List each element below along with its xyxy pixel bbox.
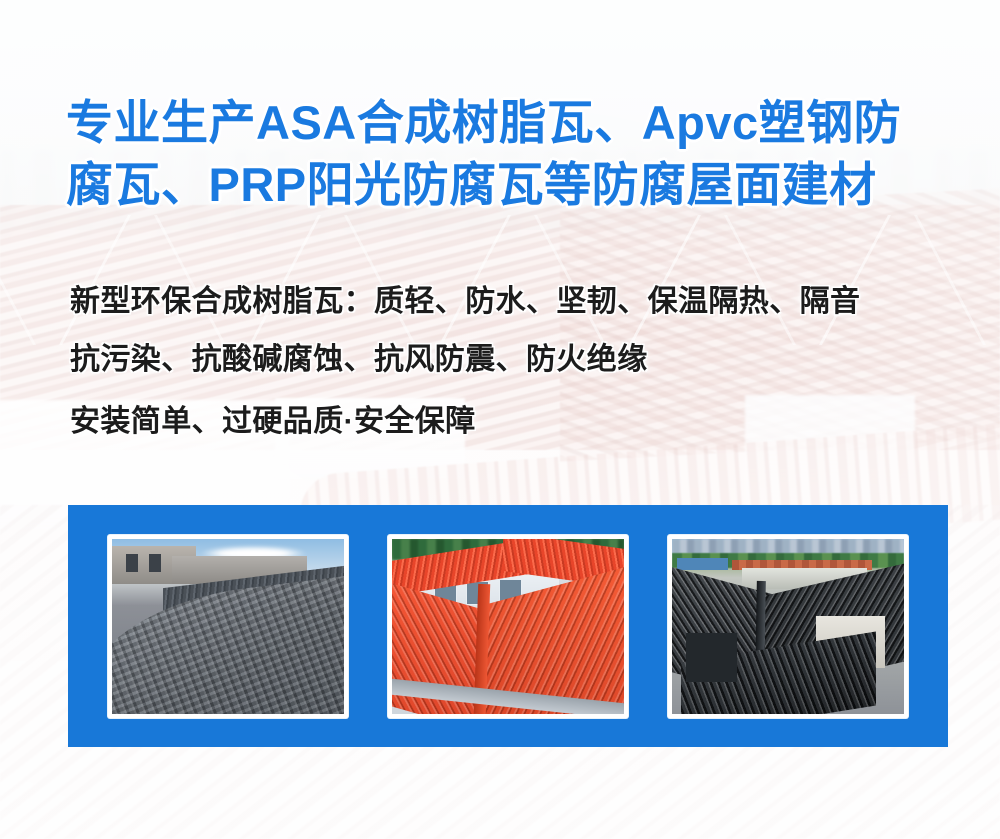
- photo-gallery: [68, 505, 948, 747]
- feature-line-2: 抗污染、抗酸碱腐蚀、抗风防震、防火绝缘: [70, 334, 960, 378]
- product-banner: 专业生产ASA合成树脂瓦、Apvc塑钢防 腐瓦、PRP阳光防腐瓦等防腐屋面建材 …: [0, 0, 1000, 839]
- photo3-dark-column: [686, 633, 737, 682]
- black-roof-image: [672, 539, 904, 714]
- photo1-window-2: [149, 554, 161, 572]
- photo1-main-tile-roof: [112, 574, 344, 713]
- grey-roof-image: [112, 539, 344, 714]
- gallery-photo-black-resin-tile-roof[interactable]: [668, 535, 908, 718]
- gallery-photo-red-resin-tile-roof[interactable]: [388, 535, 628, 718]
- page-title-line-1: 专业生产ASA合成树脂瓦、Apvc塑钢防: [66, 96, 901, 149]
- photo3-blue-shed: [677, 558, 728, 570]
- feature-line-1: 新型环保合成树脂瓦：质轻、防水、坚韧、保温隔热、隔音: [70, 276, 960, 320]
- red-roof-image: [392, 539, 624, 714]
- page-title: 专业生产ASA合成树脂瓦、Apvc塑钢防 腐瓦、PRP阳光防腐瓦等防腐屋面建材: [66, 92, 946, 216]
- page-title-line-2: 腐瓦、PRP阳光防腐瓦等防腐屋面建材: [66, 154, 946, 216]
- feature-line-3: 安装简单、过硬品质·安全保障: [70, 396, 960, 440]
- photo1-window-1: [126, 554, 138, 572]
- gallery-photo-grey-resin-tile-roof[interactable]: [108, 535, 348, 718]
